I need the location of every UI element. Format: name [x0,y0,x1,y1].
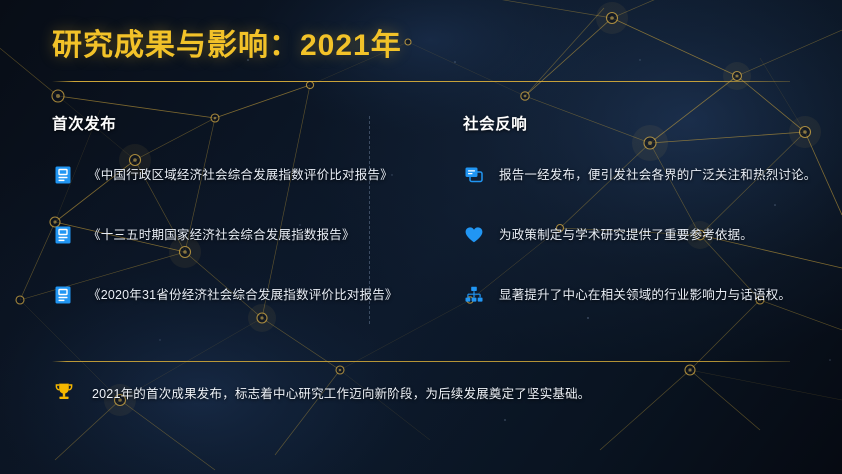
column-divider [369,116,370,324]
column-social-response: 社会反响 报告一经发布，便引发社会各界的广泛关注和热烈讨论。 [421,112,790,337]
list-item: 《十三五时期国家经济社会综合发展指数报告》 [52,221,421,249]
title-divider [52,81,790,82]
list-item-label: 报告一经发布，便引发社会各界的广泛关注和热烈讨论。 [499,167,817,184]
list-item-label: 《十三五时期国家经济社会综合发展指数报告》 [88,227,355,244]
trophy-icon [52,380,76,404]
presentation-slide: 研究成果与影响：2021年 首次发布 《中国行政区域经济社会综合发展指数评价比对… [0,0,842,474]
heart-icon [463,224,485,246]
report-document-icon [52,224,74,246]
summary-divider [52,361,790,362]
comments-icon [463,164,485,186]
column-first-release: 首次发布 《中国行政区域经济社会综合发展指数评价比对报告》 [52,112,421,337]
summary-block: 2021年的首次成果发布，标志着中心研究工作迈向新阶段，为后续发展奠定了坚实基础… [52,378,591,406]
list-item-label: 《中国行政区域经济社会综合发展指数评价比对报告》 [88,167,393,184]
list-item: 《中国行政区域经济社会综合发展指数评价比对报告》 [52,161,421,189]
column-heading-right: 社会反响 [463,112,790,134]
list-item: 显著提升了中心在相关领域的行业影响力与话语权。 [463,281,790,309]
list-item: 报告一经发布，便引发社会各界的广泛关注和热烈讨论。 [463,161,790,189]
title-block: 研究成果与影响：2021年 [52,28,402,64]
content-columns: 首次发布 《中国行政区域经济社会综合发展指数评价比对报告》 [52,112,790,337]
list-item-label: 《2020年31省份经济社会综合发展指数评价比对报告》 [88,287,398,304]
list-item-label: 显著提升了中心在相关领域的行业影响力与话语权。 [499,287,791,304]
summary-label: 2021年的首次成果发布，标志着中心研究工作迈向新阶段，为后续发展奠定了坚实基础… [92,383,591,402]
sitemap-icon [463,284,485,306]
column-heading-left: 首次发布 [52,112,421,134]
report-document-icon [52,284,74,306]
page-title: 研究成果与影响：2021年 [52,28,402,64]
report-document-icon [52,164,74,186]
list-item: 为政策制定与学术研究提供了重要参考依据。 [463,221,790,249]
list-item: 《2020年31省份经济社会综合发展指数评价比对报告》 [52,281,421,309]
list-item-label: 为政策制定与学术研究提供了重要参考依据。 [499,227,753,244]
